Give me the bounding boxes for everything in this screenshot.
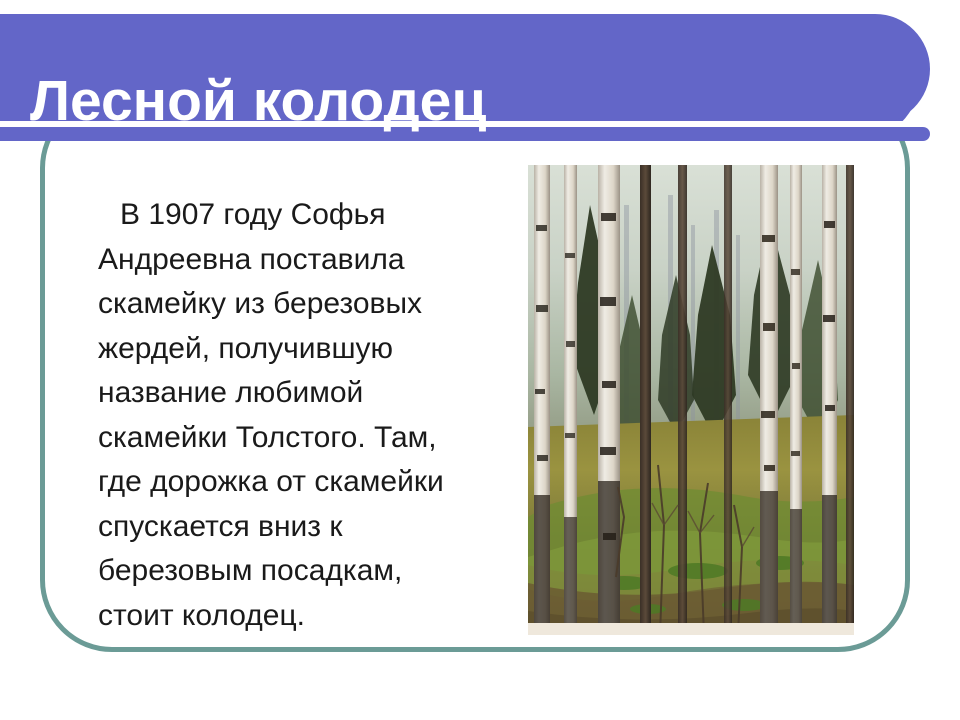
painting-artwork (528, 165, 854, 635)
presentation-slide: Лесной колодец В 1907 году Софья Андреев… (0, 0, 960, 720)
birch-forest-painting (528, 165, 854, 635)
body-paragraph: В 1907 году Софья Андреевна поставила ск… (98, 193, 466, 638)
page-title: Лесной колодец (30, 64, 486, 138)
